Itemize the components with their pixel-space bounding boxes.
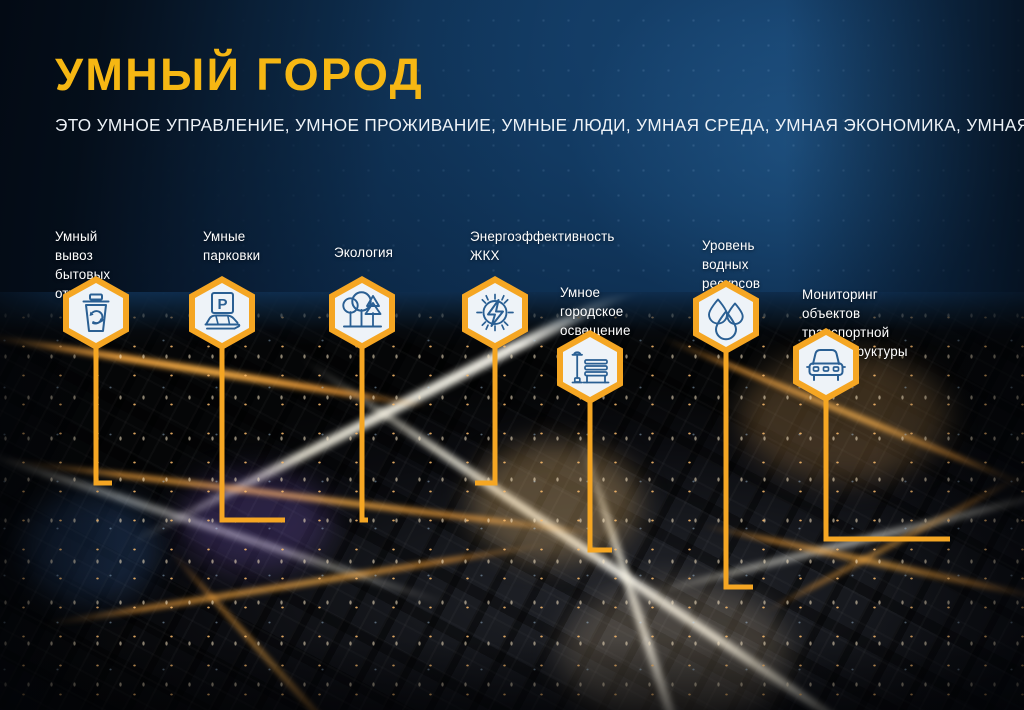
- connector-line-lighting: [590, 392, 612, 550]
- smart-city-poster: УМНЫЙ ГОРОД ЭТО УМНОЕ УПРАВЛЕНИЕ, УМНОЕ …: [0, 0, 1024, 710]
- node-label-ecology: Экология: [334, 243, 393, 262]
- badge-parking[interactable]: P: [185, 274, 259, 356]
- svg-text:P: P: [217, 296, 227, 313]
- badge-lighting[interactable]: [553, 328, 627, 410]
- badge-waste[interactable]: [59, 274, 133, 356]
- connector-line-waste: [96, 338, 112, 483]
- connector-line-water: [726, 342, 753, 587]
- badge-ecology[interactable]: [325, 274, 399, 356]
- node-label-energy: Энергоэффективность ЖКХ: [470, 227, 615, 265]
- connector-line-ecology: [362, 338, 368, 520]
- connector-line-energy: [475, 338, 495, 483]
- connector-line-parking: [222, 338, 285, 520]
- connector-line-transport: [826, 390, 950, 539]
- node-label-parking: Умные парковки: [203, 227, 260, 265]
- badge-transport[interactable]: [789, 326, 863, 408]
- badge-water[interactable]: [689, 278, 763, 360]
- badge-energy[interactable]: [458, 274, 532, 356]
